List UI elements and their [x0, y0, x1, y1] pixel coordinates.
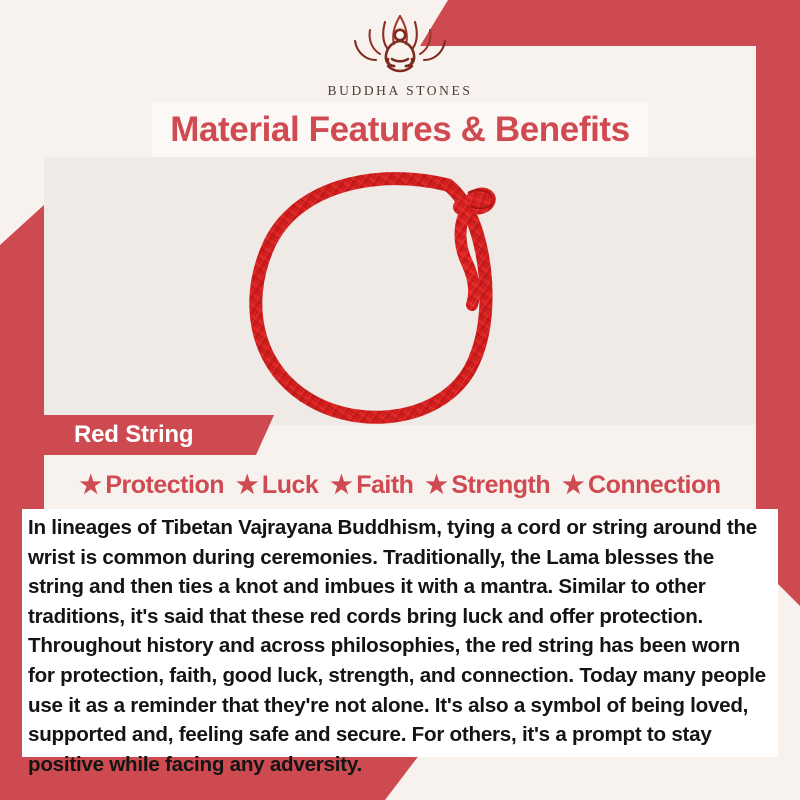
- benefit-item-connection: ★ Connection: [558, 471, 724, 500]
- material-ribbon-label: Red String: [24, 415, 274, 455]
- star-icon: ★: [330, 473, 352, 498]
- brand-name: BUDDHA STONES: [328, 83, 473, 99]
- benefit-item-strength: ★ Strength: [421, 471, 554, 500]
- star-icon: ★: [79, 473, 101, 498]
- star-icon: ★: [236, 473, 258, 498]
- benefit-label: Faith: [356, 471, 413, 500]
- star-icon: ★: [425, 473, 447, 498]
- description-text: In lineages of Tibetan Vajrayana Buddhis…: [28, 513, 772, 779]
- page-title-box: Material Features & Benefits: [152, 102, 648, 157]
- infographic-page: BUDDHA STONES Material Features & Benefi…: [0, 0, 800, 800]
- ribbon-text: Red String: [74, 421, 193, 449]
- product-image: [44, 157, 756, 425]
- red-braided-string-bracelet-illustration: [44, 157, 756, 425]
- benefit-item-protection: ★ Protection: [75, 471, 228, 500]
- benefit-label: Connection: [588, 471, 721, 500]
- benefits-list: ★ Protection ★ Luck ★ Faith ★ Strength ★…: [24, 466, 776, 504]
- brand-logo: BUDDHA STONES: [0, 8, 800, 99]
- benefit-label: Protection: [105, 471, 224, 500]
- benefit-label: Strength: [451, 471, 550, 500]
- benefit-item-faith: ★ Faith: [326, 471, 417, 500]
- star-icon: ★: [562, 473, 584, 498]
- lotus-meditation-icon: [332, 8, 468, 82]
- benefit-label: Luck: [262, 471, 318, 500]
- benefit-item-luck: ★ Luck: [232, 471, 322, 500]
- page-title: Material Features & Benefits: [170, 110, 630, 150]
- description-box: In lineages of Tibetan Vajrayana Buddhis…: [22, 509, 778, 757]
